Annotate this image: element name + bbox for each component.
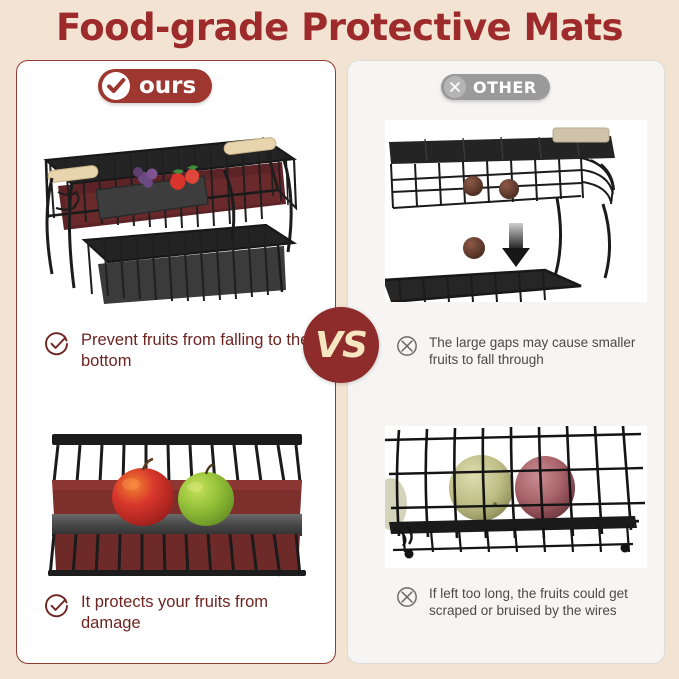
- photo-bare-wire-basket-fruit-falling: [385, 120, 647, 302]
- ours-badge: ours: [98, 69, 212, 103]
- bullet-large-gaps: The large gaps may cause smaller fruits …: [396, 334, 648, 368]
- other-badge-label: OTHER: [473, 78, 537, 97]
- bullet-prevent-falling: Prevent fruits from falling to the botto…: [44, 330, 316, 372]
- bullet-text: Prevent fruits from falling to the botto…: [81, 330, 316, 372]
- x-circle-icon: [396, 335, 418, 362]
- photo-bruised-fruit-against-wires: [385, 426, 647, 568]
- vs-badge: VS: [303, 307, 379, 383]
- photo-two-tier-wire-basket-with-mat: [28, 112, 326, 304]
- x-circle-icon: [444, 76, 466, 98]
- photo-apples-resting-on-protective-mat: [28, 418, 326, 578]
- other-badge: OTHER: [441, 74, 550, 100]
- bullet-scraped-bruised: If left too long, the fruits could get s…: [396, 585, 648, 619]
- check-circle-icon: [44, 331, 70, 362]
- check-circle-icon: [102, 72, 130, 100]
- page-title: Food-grade Protective Mats: [0, 6, 679, 49]
- check-circle-icon: [44, 593, 70, 624]
- x-circle-icon: [396, 586, 418, 613]
- comparison-infographic: Food-grade Protective Mats ours: [0, 0, 679, 679]
- bullet-protects-fruits: It protects your fruits from damage: [44, 592, 316, 634]
- bullet-text: It protects your fruits from damage: [81, 592, 316, 634]
- bullet-text: If left too long, the fruits could get s…: [429, 585, 648, 619]
- bullet-text: The large gaps may cause smaller fruits …: [429, 334, 648, 368]
- ours-badge-label: ours: [139, 73, 196, 99]
